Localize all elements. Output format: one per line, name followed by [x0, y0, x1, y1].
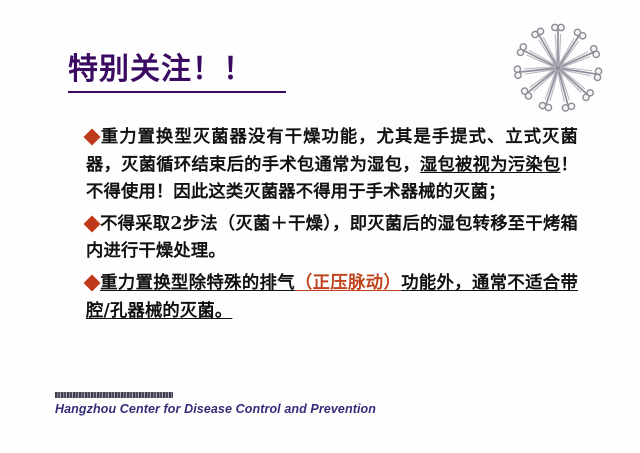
- bullet-3-segment-2-accent: （正压脉动）: [295, 273, 401, 293]
- title-underline: [68, 91, 286, 93]
- bullet-3-segment-1: 重力置换型除特殊的排气: [100, 273, 295, 293]
- bullet-item-3: 重力置换型除特殊的排气（正压脉动）功能外，通常不适合带腔/孔器械的灭菌。: [86, 270, 578, 325]
- title-block: 特别关注！！: [68, 54, 298, 93]
- bullet-1-segment-2-underlined: 湿包被视为污染包: [420, 155, 561, 175]
- slide-canvas: 特别关注！！: [0, 0, 640, 453]
- bullet-2-segment-1: 不得采取2步法（灭菌＋干燥），即灭菌后的湿包转移至干烤箱内进行干燥处理。: [86, 214, 578, 262]
- footer: Hangzhou Center for Disease Control and …: [55, 392, 475, 416]
- surgical-scissors-icon: [503, 20, 615, 120]
- bullet-item-1: 重力置换型灭菌器没有干燥功能，尤其是手提式、立式灭菌器，灭菌循环结束后的手术包通…: [86, 124, 578, 207]
- organization-logo-icon: [55, 392, 173, 398]
- bullet-list: 重力置换型灭菌器没有干燥功能，尤其是手提式、立式灭菌器，灭菌循环结束后的手术包通…: [86, 124, 578, 325]
- diamond-bullet-icon: [84, 215, 101, 232]
- diamond-bullet-icon: [84, 274, 101, 291]
- organization-name: Hangzhou Center for Disease Control and …: [55, 402, 475, 416]
- bullet-item-2: 不得采取2步法（灭菌＋干燥），即灭菌后的湿包转移至干烤箱内进行干燥处理。: [86, 211, 578, 266]
- diamond-bullet-icon: [84, 129, 101, 146]
- page-title: 特别关注！！: [68, 54, 298, 89]
